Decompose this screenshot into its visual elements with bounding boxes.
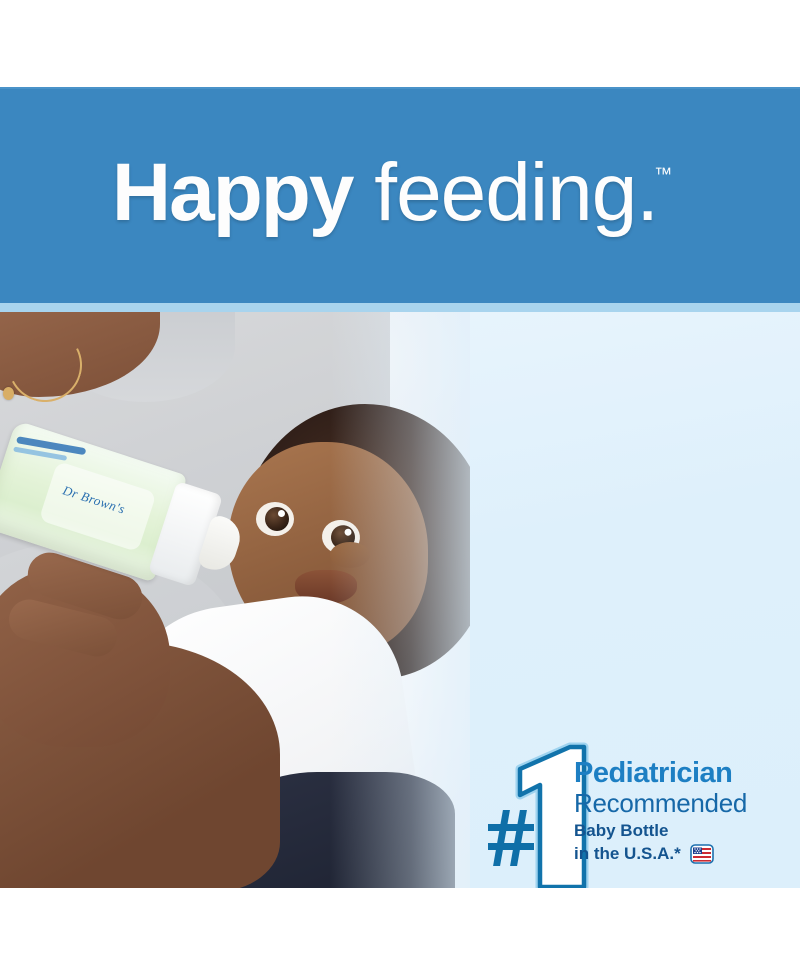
lifestyle-photo: Dr Brown's	[0, 312, 470, 888]
claim-line-recommended: Recommended	[574, 790, 789, 817]
banner-bottom-strip	[0, 303, 800, 312]
banner-headline: Happy feeding.™	[112, 152, 676, 234]
happy-feeding-banner: Happy feeding.™	[0, 87, 800, 303]
bottom-white-margin	[0, 888, 800, 977]
claim-line-baby-bottle: Baby Bottle	[574, 821, 789, 840]
number-one-claim: Pediatrician Recommended Baby Bottle in …	[488, 737, 788, 888]
product-marketing-image: Happy feeding.™	[0, 0, 800, 977]
lifestyle-stage: Dr Brown's Pediatric	[0, 312, 800, 888]
headline-bold-word: Happy	[112, 147, 353, 238]
claim-line-pediatrician: Pediatrician	[574, 759, 789, 788]
claim-line-usa: in the U.S.A.	[574, 844, 674, 863]
claim-asterisk: *	[674, 844, 681, 863]
headline-light-word: feeding.	[353, 147, 659, 238]
claim-text-block: Pediatrician Recommended Baby Bottle in …	[574, 759, 789, 868]
photo-edge-fade	[330, 312, 470, 888]
top-white-margin	[0, 0, 800, 87]
trademark-symbol: ™	[654, 164, 672, 184]
claim-line-usa-row: in the U.S.A.*	[574, 844, 789, 868]
necklace-pendant	[3, 387, 14, 400]
usa-flag-icon	[690, 844, 714, 868]
baby-eye-left	[256, 502, 294, 536]
